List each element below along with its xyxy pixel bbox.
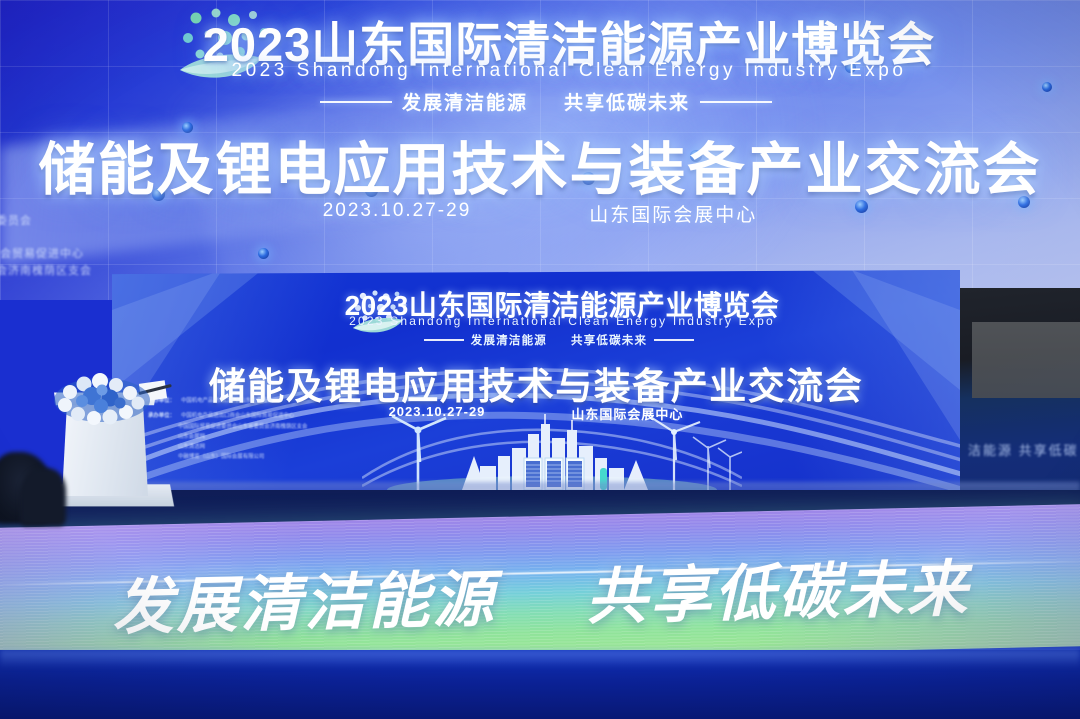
left-wall-signage-line-3: 东省委员会济南槐荫区支会	[0, 262, 92, 278]
screen-organizer-credits: 主办单位： 中国机电产品进出口商会山东省委员会 承办单位： 中国机电产品进出口商…	[148, 396, 338, 463]
credit-value: 中国机电产品进出口商会山东省委员会	[181, 396, 273, 406]
screen-slogan-dash-left-icon	[424, 339, 464, 341]
podium-flower-arrangement	[48, 370, 156, 426]
credit-value: 中融博览（山东）国际会展有限公司	[148, 452, 338, 462]
slogan-dash-left-icon	[320, 101, 392, 103]
wall-slogan-left: 发展清洁能源	[402, 88, 528, 115]
wall-title-en: 2023 Shandong International Clean Energy…	[0, 60, 1080, 82]
right-wall-partial-text: 洁能源 共享低碳	[968, 440, 1079, 459]
credit-value: 中国机电产品进出口商会山东国际贸易促进中心	[181, 411, 294, 421]
wall-date: 2023.10.27-29	[323, 200, 472, 227]
wall-slogan-right: 共享低碳未来	[564, 88, 690, 115]
screen-slogan-left: 发展清洁能源	[471, 332, 547, 348]
expo-stage-photo: 东省委员会 东省委员会贸易促进中心 东省委员会济南槐荫区支会 2023山东	[0, 0, 1080, 719]
credit-value: 山东会展网	[148, 432, 338, 442]
credit-value: 中国国际贸易促进委员会山东省委员会济南槐荫区支会	[148, 422, 338, 432]
stage-front-led-banner: 发展清洁能源 共享低碳未来	[0, 504, 1080, 670]
foreground-silhouette	[20, 468, 66, 526]
ceiling-light-fixture	[258, 248, 269, 259]
wall-meta-row: 2023.10.27-29 山东国际会展中心	[0, 200, 1080, 227]
screen-title-en: 2023 Shandong International Clean Energy…	[112, 314, 960, 328]
screen-slogan-row: 发展清洁能源 共享低碳未来	[112, 332, 960, 348]
stage-apron-sheen	[0, 650, 1080, 668]
left-wall-signage-line-2: 东省委员会贸易促进中心	[0, 245, 84, 261]
screen-slogan-right: 共享低碳未来	[571, 332, 647, 348]
right-side-monitor	[972, 322, 1080, 398]
credit-row: 承办单位： 中国机电产品进出口商会山东国际贸易促进中心	[148, 411, 338, 421]
slogan-dash-right-icon	[700, 101, 772, 103]
credit-row: 主办单位： 中国机电产品进出口商会山东省委员会	[148, 396, 338, 406]
wall-venue: 山东国际会展中心	[589, 200, 757, 227]
screen-slogan-dash-right-icon	[654, 339, 694, 341]
wall-subtitle-cn: 储能及锂电应用技术与装备产业交流会	[0, 124, 1080, 206]
wall-slogan-row: 发展清洁能源 共享低碳未来	[0, 88, 1080, 115]
main-stage-led-screen: 2023山东国际清洁能源产业博览会 2023 Shandong Internat…	[112, 270, 960, 498]
front-led-slogan-left: 发展清洁能源	[112, 565, 497, 641]
credit-value: 山东清洁网	[148, 442, 338, 452]
front-led-slogan-right: 共享低碳未来	[585, 555, 970, 631]
